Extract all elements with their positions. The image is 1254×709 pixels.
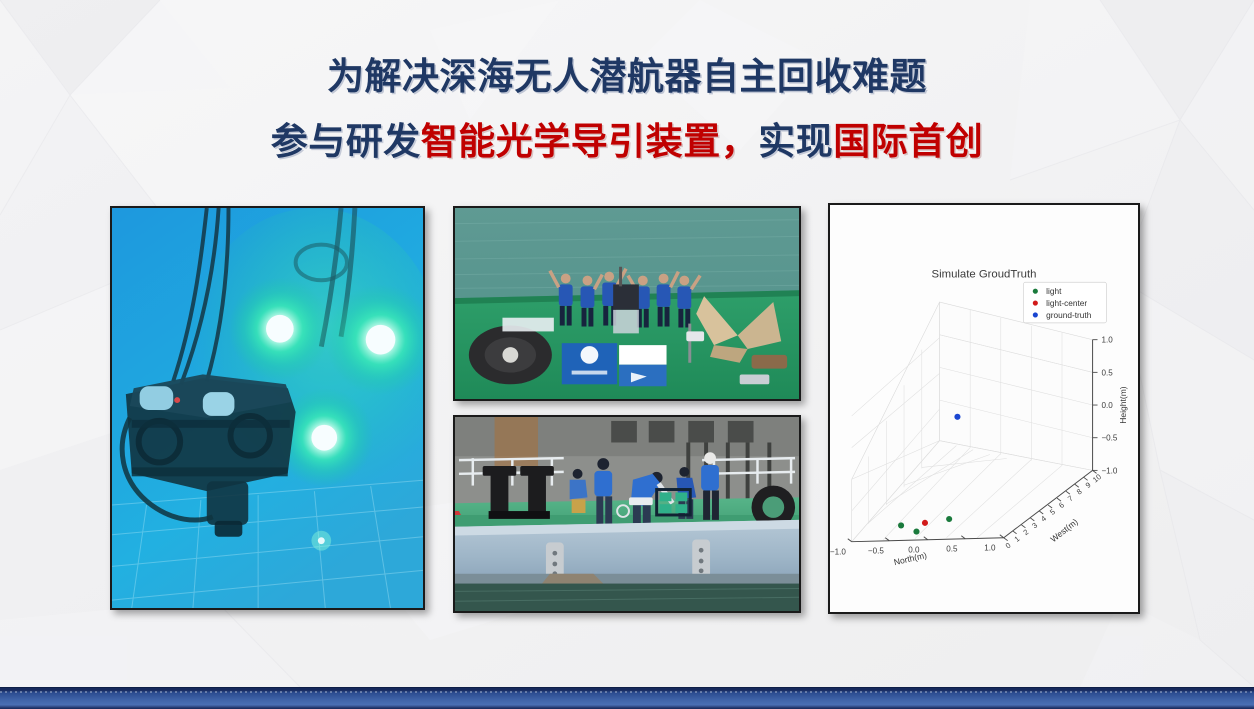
slide-bottom-bar	[0, 687, 1254, 709]
ship-deck-team-image	[455, 208, 799, 399]
deck-equipment-work-image	[455, 417, 799, 611]
x-tick-label: 1.0	[984, 544, 996, 553]
legend-marker-light-center	[1033, 300, 1038, 305]
slide-title-block: 为解决深海无人潜航器自主回收难题 参与研发智能光学导引装置，实现国际首创	[0, 58, 1254, 160]
title-line-2: 参与研发智能光学导引装置，实现国际首创	[0, 123, 1254, 160]
x-tick-label: 0.5	[946, 545, 958, 554]
chart-title: Simulate GroudTruth	[932, 268, 1037, 280]
chart-3d-scatter: Simulate GroudTruth	[830, 205, 1138, 612]
legend-label-ground-truth: ground-truth	[1046, 310, 1092, 320]
z-tick-label: 0.5	[1101, 368, 1113, 377]
photo-underwater-rov[interactable]	[110, 206, 425, 610]
chart-legend[interactable]: lightlight-centerground-truth	[1023, 282, 1106, 323]
title-part-4-highlight: 国际首创	[833, 120, 983, 163]
z-tick-label: −0.5	[1101, 434, 1117, 443]
photo-deck-equipment-work[interactable]	[453, 415, 801, 613]
underwater-rov-image	[112, 208, 423, 608]
data-point-light	[898, 522, 904, 528]
legend-label-light-center: light-center	[1046, 298, 1087, 308]
photo-ship-deck-team[interactable]	[453, 206, 801, 401]
title-part-1: 参与研发	[271, 120, 421, 163]
title-line-1: 为解决深海无人潜航器自主回收难题	[0, 58, 1254, 95]
bottom-bar-dotted-line	[0, 691, 1254, 693]
data-point-light-center	[922, 520, 928, 526]
chart-zaxis-label: Height(m)	[1118, 386, 1128, 424]
title-part-3: 实现	[758, 120, 833, 163]
data-point-light	[913, 529, 919, 535]
z-tick-label: −1.0	[1101, 466, 1117, 475]
legend-label-light: light	[1046, 286, 1062, 296]
title-part-2-highlight: 智能光学导引装置，	[421, 120, 759, 163]
z-tick-label: 1.0	[1101, 336, 1113, 345]
legend-marker-light	[1033, 289, 1038, 294]
legend-marker-ground-truth	[1033, 312, 1038, 317]
x-tick-label: −1.0	[830, 548, 846, 557]
simulate-groundtruth-chart-panel[interactable]: Simulate GroudTruth	[828, 203, 1140, 614]
data-point-light	[946, 516, 952, 522]
x-tick-label: −0.5	[868, 547, 884, 556]
data-point-ground-truth	[954, 414, 960, 420]
z-tick-label: 0.0	[1101, 401, 1113, 410]
